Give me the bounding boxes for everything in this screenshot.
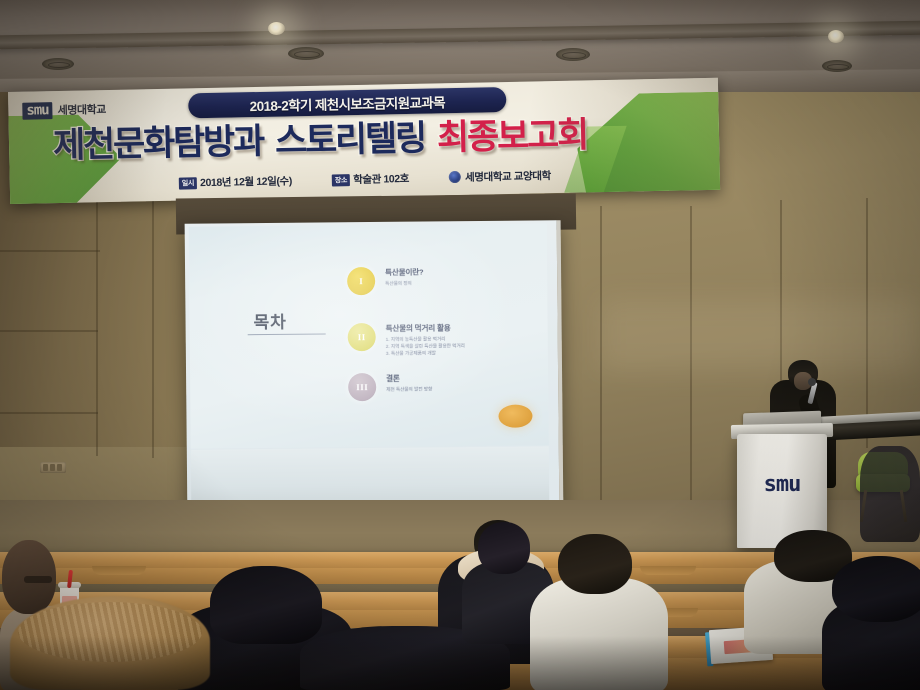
banner-date: 일시2018년 12월 12일(수) [179,173,292,190]
wall-seam [0,330,98,332]
banner-subtitle-text: 2018-2학기 제천시보조금지원교과목 [249,91,445,115]
microphone-head-icon [808,378,816,386]
projection-screen: 목차 I 특산물이란? 특산물의 정의 II 특산물의 먹거리 활용 1. 지역… [185,220,564,514]
smu-logo-mark: smu [22,102,53,119]
ceiling-vent-icon [42,58,74,70]
ceiling-spotlight [268,22,285,35]
ceiling-vent-icon [288,47,324,60]
banner-title-part3: 최종보고회 [437,117,588,155]
banner-title-part1: 제천문화탐방과 [53,123,264,162]
slide-toc-text: 특산물이란? 특산물의 정의 [385,267,424,287]
slide-toc-badge: I [347,267,375,295]
person-hair [832,556,920,622]
slide-heading: 목차 [253,308,287,333]
slide-toc-item-2: II 특산물의 먹거리 활용 1. 지역의 농특산물 활용 먹거리 2. 지역 … [348,322,465,357]
person-torso [530,578,668,690]
slide-toc-title: 특산물의 먹거리 활용 [386,322,465,334]
person-fur-hood [10,596,210,690]
person-white-hoodie [530,534,668,690]
wall-seam [0,250,100,252]
person-torso [860,446,920,542]
banner-place: 장소학술관 102호 [332,170,409,187]
glasses-icon [24,576,52,583]
slide-toc-title: 결론 [386,372,432,383]
slide-toc-sub: 1. 지역의 농특산물 활용 먹거리 2. 지역 특색을 살린 특산물 활용한 … [386,335,465,357]
slide-toc-item-3: III 결론 제천 특산물의 발전 방향 [348,372,432,401]
wall-socket-icon [40,462,66,473]
banner-organizer: 세명대학교 교양대학 [449,168,551,185]
person-far-right [860,420,920,540]
banner-organizer-name: 세명대학교 교양대학 [465,168,551,185]
banner-place-label: 장소 [332,174,351,186]
slide-toc-text: 특산물의 먹거리 활용 1. 지역의 농특산물 활용 먹거리 2. 지역 특색을… [386,322,465,357]
wall-highlight [600,300,920,370]
banner-university-logo: smu 세명대학교 [22,101,106,119]
projected-slide: 목차 I 특산물이란? 특산물의 정의 II 특산물의 먹거리 활용 1. 지역… [189,223,549,448]
slide-toc-text: 결론 제천 특산물의 발전 방향 [386,372,432,393]
podium-smu-logo: smu [764,474,801,496]
banner-title-part2: 스토리텔링 [275,120,426,158]
person-dark-right [822,556,920,690]
ceiling-vent-icon [556,48,590,61]
fur-texture [18,602,202,662]
ceiling-spotlight [828,30,844,43]
slide-toc-sub: 제천 특산물의 발전 방향 [386,385,432,393]
banner-date-label: 일시 [179,177,198,189]
desk-notch [92,566,146,575]
slide-toc-badge: II [348,323,376,351]
banner-place-value: 학술관 102호 [353,172,409,185]
slide-toc-title: 특산물이란? [385,267,423,278]
slide-toc-item-1: I 특산물이란? 특산물의 정의 [347,267,424,296]
wall-seam [0,412,98,414]
lecture-hall-photo: smu 세명대학교 2018-2학기 제천시보조금지원교과목 제천문화탐방과 스… [0,0,920,690]
slide-heading-rule [248,333,326,335]
slide-accent-dot [498,404,532,427]
banner-date-value: 2018년 12월 12일(수) [200,175,292,189]
person-hair [558,534,632,594]
person-head [478,522,530,574]
banner-university-name: 세명대학교 [58,101,106,118]
slide-toc-sub: 특산물의 정의 [385,280,423,287]
event-banner: smu 세명대학교 2018-2학기 제천시보조금지원교과목 제천문화탐방과 스… [8,78,720,204]
ceiling-vent-icon [822,60,852,72]
slide-toc-badge: III [348,373,376,401]
organizer-emblem-icon [449,171,461,183]
